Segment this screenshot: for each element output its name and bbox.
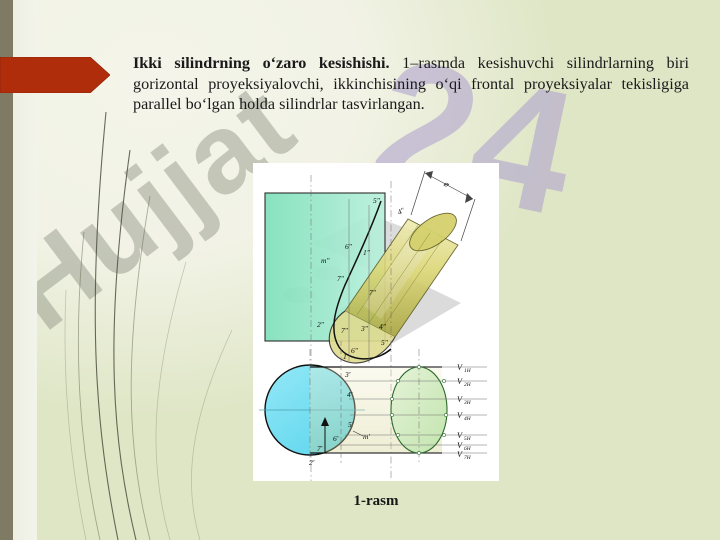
projection-label-2: V xyxy=(457,377,463,386)
label-4dd: 4" xyxy=(396,205,407,216)
projection-label-5: V xyxy=(457,431,463,440)
label-1dd: 1" xyxy=(363,248,371,257)
label-2dd: 2" xyxy=(317,320,325,329)
projection-label-3-sub: 3H xyxy=(463,400,472,406)
paragraph-heading: Ikki silindrning o‘zaro kesishishi. xyxy=(133,54,390,72)
label-5p: 5' xyxy=(348,420,354,429)
projection-label-1: V xyxy=(457,363,463,372)
projection-label-5-sub: 5H xyxy=(464,436,472,442)
projection-label-1-sub: 1H xyxy=(464,368,472,374)
projection-label-7: V xyxy=(457,450,463,459)
projection-label-3: V xyxy=(457,395,463,404)
technical-drawing: ⌀ 5" 4" 6" m" 1" 7" 7" 2" 7" 3" 4" 6" 5" xyxy=(253,163,499,481)
diameter-symbol: ⌀ xyxy=(442,179,452,190)
label-4p: 4' xyxy=(347,390,353,399)
label-5dd-top: 5" xyxy=(373,196,381,205)
label-1p: 1' xyxy=(343,352,349,361)
projection-label-6: V xyxy=(457,441,463,450)
label-6dd-top: 6" xyxy=(345,242,353,251)
projection-label-4: V xyxy=(457,411,463,420)
projection-label-7-sub: 7H xyxy=(464,455,472,461)
label-7dd: 7" xyxy=(369,288,377,297)
projection-label-6-sub: 6H xyxy=(464,446,472,452)
figure-caption: 1-rasm xyxy=(253,493,499,510)
label-2p: 2' xyxy=(309,458,315,467)
label-6dd-bottom: 6" xyxy=(351,346,359,355)
slide-canvas: Hujjat 24 Ikki silindrning o‘zaro kesish… xyxy=(0,0,720,540)
label-mp: m' xyxy=(363,432,370,441)
projection-label-2-sub: 2H xyxy=(464,382,472,388)
label-7dd-upper: 7" xyxy=(337,274,345,283)
projection-labels: V 1H V 2H V 3H V 4H V 5H V 6H V 7H xyxy=(457,363,472,461)
figure-container: ⌀ 5" 4" 6" m" 1" 7" 7" 2" 7" 3" 4" 6" 5" xyxy=(253,163,499,481)
label-5dd-bottom: 5" xyxy=(381,338,389,347)
label-4dd-low: 4" xyxy=(379,322,387,331)
label-3p: 3' xyxy=(344,370,351,379)
label-3dd: 3" xyxy=(360,324,369,333)
label-7dd-low: 7" xyxy=(341,326,349,335)
label-mdd: m" xyxy=(321,256,330,265)
label-7p: 7' xyxy=(317,444,323,453)
body-paragraph: Ikki silindrning o‘zaro kesishishi. 1–ra… xyxy=(133,53,689,115)
projection-label-4-sub: 4H xyxy=(464,416,472,422)
red-arrow-banner xyxy=(0,57,110,93)
label-6p: 6' xyxy=(333,434,339,443)
